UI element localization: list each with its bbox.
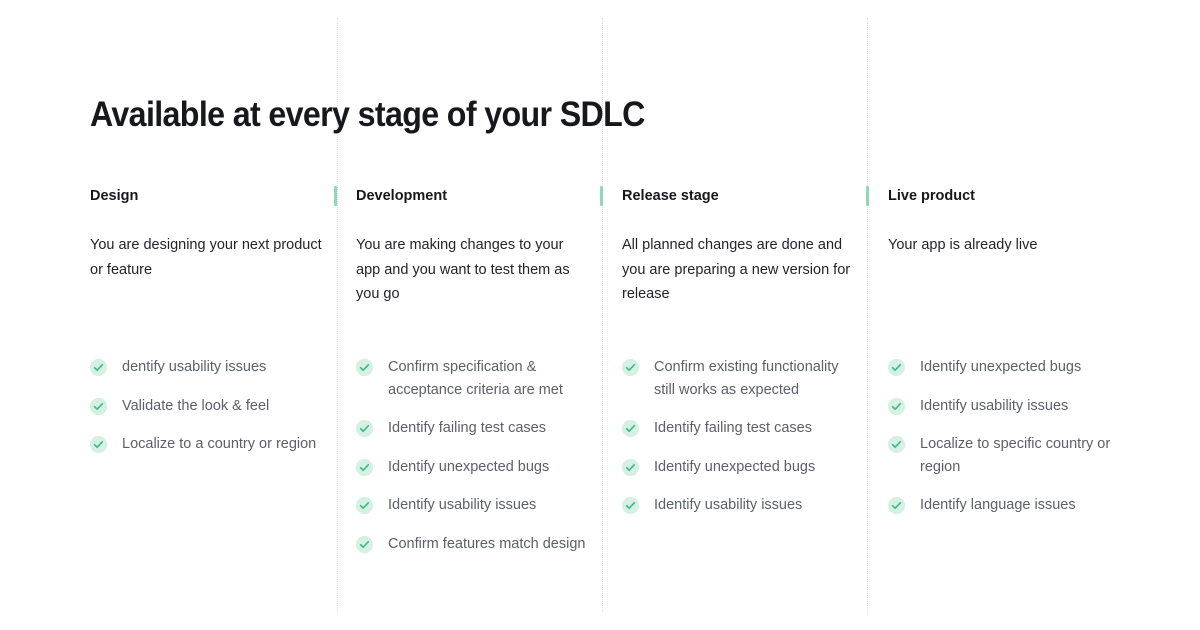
check-circle-icon [90,436,107,453]
list-item-label: Identify usability issues [654,497,802,513]
list-item: Confirm existing functionality still wor… [622,356,854,401]
list-item-label: dentify usability issues [122,359,266,375]
stage-description: Your app is already live [888,233,1120,258]
check-circle-icon [356,459,373,476]
stage-heading-label: Development [356,188,447,204]
stage-heading-label: Design [90,188,138,204]
list-item-label: Localize to specific country or region [920,436,1110,475]
check-circle-icon [888,398,905,415]
stage-heading-label: Live product [888,188,975,204]
stage-column-design: Design You are designing your next produ… [90,186,322,282]
check-circle-icon [90,398,107,415]
list-item-label: Confirm specification & acceptance crite… [388,359,563,398]
stage-item-list: Confirm existing functionality still wor… [622,356,854,517]
list-item-label: Identify failing test cases [654,420,812,436]
list-item: Identify usability issues [356,494,588,517]
check-circle-icon [622,420,639,437]
list-item: Identify failing test cases [356,417,588,440]
stage-heading-label: Release stage [622,188,719,204]
check-circle-icon [888,359,905,376]
stage-column-release-stage: Release stage All planned changes are do… [622,186,854,307]
list-item-label: Identify language issues [920,497,1076,513]
stage-heading: Development [356,186,588,206]
list-item: Confirm features match design [356,533,588,556]
list-item-label: Confirm features match design [388,536,585,552]
list-item-label: Identify unexpected bugs [654,459,815,475]
stage-column-development: Development You are making changes to yo… [356,186,588,307]
check-circle-icon [356,359,373,376]
stage-column-live-product: Live product Your app is already live Id… [888,186,1120,258]
list-item-label: Validate the look & feel [122,398,269,414]
list-item-label: Identify failing test cases [388,420,546,436]
list-item: Identify language issues [888,494,1120,517]
stage-heading: Live product [888,186,1120,206]
stage-heading: Release stage [622,186,854,206]
list-item: Localize to a country or region [90,433,322,456]
check-circle-icon [622,497,639,514]
list-item: Identify usability issues [888,395,1120,418]
list-item: Identify unexpected bugs [356,456,588,479]
check-circle-icon [622,459,639,476]
list-item: Validate the look & feel [90,395,322,418]
list-item-label: Confirm existing functionality still wor… [654,359,839,398]
stage-item-list: Identify unexpected bugs Identify usabil… [888,356,1120,517]
stage-description: All planned changes are done and you are… [622,233,854,307]
list-item: Identify unexpected bugs [888,356,1120,379]
check-circle-icon [888,436,905,453]
list-item: Confirm specification & acceptance crite… [356,356,588,401]
stage-description: You are designing your next product or f… [90,233,322,282]
column-divider-3 [867,18,869,612]
check-circle-icon [622,359,639,376]
list-item-label: Localize to a country or region [122,436,316,452]
accent-bar-icon [600,186,603,206]
list-item: Identify usability issues [622,494,854,517]
accent-bar-icon [866,186,869,206]
list-item-label: Identify unexpected bugs [388,459,549,475]
check-circle-icon [356,420,373,437]
stage-item-list: Confirm specification & acceptance crite… [356,356,588,555]
page-title: Available at every stage of your SDLC [90,95,645,135]
list-item: Localize to specific country or region [888,433,1120,478]
list-item-label: Identify usability issues [920,398,1068,414]
check-circle-icon [90,359,107,376]
check-circle-icon [888,497,905,514]
check-circle-icon [356,497,373,514]
accent-bar-icon [334,186,337,206]
list-item: Identify failing test cases [622,417,854,440]
list-item-label: Identify usability issues [388,497,536,513]
stage-heading: Design [90,186,322,206]
check-circle-icon [356,536,373,553]
list-item: Identify unexpected bugs [622,456,854,479]
list-item: dentify usability issues [90,356,322,379]
infographic-page: Available at every stage of your SDLC De… [0,0,1200,630]
stage-item-list: dentify usability issues Validate the lo… [90,356,322,456]
stage-description: You are making changes to your app and y… [356,233,588,307]
list-item-label: Identify unexpected bugs [920,359,1081,375]
